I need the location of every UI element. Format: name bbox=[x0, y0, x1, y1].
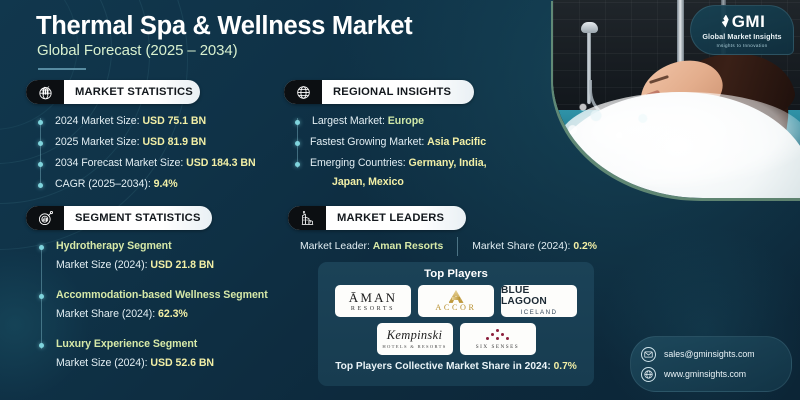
market-leader-row: Market Leader: Aman Resorts Market Share… bbox=[300, 237, 597, 256]
stat-value: USD 184.3 BN bbox=[186, 157, 255, 169]
stat-row: 2034 Forecast Market Size: USD 184.3 BN bbox=[55, 157, 256, 169]
globe-chart-icon bbox=[26, 80, 64, 104]
six-senses-logo: SIX SENSES bbox=[460, 323, 536, 355]
page-title: Thermal Spa & Wellness Market bbox=[36, 12, 412, 41]
contact-email-row[interactable]: sales@gminsights.com bbox=[641, 347, 781, 362]
top-players-row-1: ĀMAN RESORTS ACCOR BLUE LAGOON ICELAND bbox=[326, 285, 586, 317]
logo-line-2: HOTELS & RESORTS bbox=[382, 344, 446, 349]
market-share-value: 0.2% bbox=[573, 241, 597, 252]
contact-panel: sales@gminsights.com www.gminsights.com bbox=[630, 336, 792, 392]
factory-building-icon bbox=[288, 206, 326, 230]
timeline-dot bbox=[39, 343, 44, 348]
gmi-logo-name: GMI bbox=[732, 13, 766, 30]
logo-line-1: ACCOR bbox=[435, 304, 476, 312]
market-leader: Market Leader: Aman Resorts bbox=[300, 241, 443, 252]
timeline-dot bbox=[38, 120, 43, 125]
section-label: SEGMENT STATISTICS bbox=[64, 212, 201, 224]
stat-value: USD 75.1 BN bbox=[142, 115, 206, 127]
timeline-dot bbox=[38, 183, 43, 188]
logo-line-1: ĀMAN bbox=[349, 291, 398, 304]
top-players-footer: Top Players Collective Market Share in 2… bbox=[326, 361, 586, 372]
contact-website: www.gminsights.com bbox=[664, 369, 746, 379]
region-value: Europe bbox=[388, 115, 424, 127]
top-players-row-2: Kempinski HOTELS & RESORTS SIX SENSES bbox=[326, 323, 586, 355]
region-label: Largest Market: bbox=[312, 115, 385, 127]
market-leader-value: Aman Resorts bbox=[373, 241, 443, 252]
logo-line-1: BLUE LAGOON bbox=[501, 286, 577, 306]
segment-metric-value: USD 21.8 BN bbox=[150, 259, 214, 271]
market-leader-label: Market Leader: bbox=[300, 241, 370, 252]
logo-line-2: ICELAND bbox=[521, 309, 558, 316]
timeline-dot bbox=[38, 141, 43, 146]
region-row: Fastest Growing Market: Asia Pacific bbox=[310, 136, 486, 148]
region-value: Germany, India, bbox=[409, 157, 487, 169]
logo-line-1: SIX SENSES bbox=[476, 344, 519, 350]
segment-metric-value: 62.3% bbox=[158, 308, 188, 320]
vertical-divider bbox=[457, 237, 458, 256]
stat-label: 2034 Forecast Market Size: bbox=[55, 157, 183, 169]
segment-metric: Market Size (2024): USD 21.8 BN bbox=[56, 259, 214, 271]
segment-name: Luxury Experience Segment bbox=[56, 338, 197, 350]
stat-value: USD 81.9 BN bbox=[142, 136, 206, 148]
segment-metric-label: Market Size (2024): bbox=[56, 357, 148, 369]
region-row-cont: Japan, Mexico bbox=[332, 176, 404, 188]
section-label: MARKET STATISTICS bbox=[64, 86, 193, 98]
region-label: Emerging Countries: bbox=[310, 157, 406, 169]
decor-blob bbox=[0, 250, 90, 400]
section-label: MARKET LEADERS bbox=[326, 212, 444, 224]
accor-logo: ACCOR bbox=[418, 285, 494, 317]
envelope-icon bbox=[641, 347, 656, 362]
market-share: Market Share (2024): 0.2% bbox=[472, 241, 597, 252]
segment-metric: Market Share (2024): 62.3% bbox=[56, 308, 188, 320]
aman-resorts-logo: ĀMAN RESORTS bbox=[335, 285, 411, 317]
region-row: Largest Market: Europe bbox=[312, 115, 424, 127]
blue-lagoon-logo: BLUE LAGOON ICELAND bbox=[501, 285, 577, 317]
section-label: REGIONAL INSIGHTS bbox=[322, 86, 451, 98]
timeline-line bbox=[40, 118, 41, 186]
title-divider bbox=[38, 68, 86, 70]
segment-metric: Market Size (2024): USD 52.6 BN bbox=[56, 357, 214, 369]
kempinski-logo: Kempinski HOTELS & RESORTS bbox=[377, 323, 453, 355]
top-players-footer-label: Top Players Collective Market Share in 2… bbox=[335, 361, 551, 372]
stat-row: CAGR (2025–2034): 9.4% bbox=[55, 178, 178, 190]
stat-row: 2025 Market Size: USD 81.9 BN bbox=[55, 136, 206, 148]
gmi-diamond-icon bbox=[719, 15, 730, 28]
six-senses-dots-icon bbox=[483, 329, 513, 342]
section-header-segment-statistics: SEGMENT STATISTICS bbox=[26, 206, 212, 230]
bubbles bbox=[557, 96, 687, 152]
accor-mark-icon bbox=[449, 290, 464, 303]
top-players-title: Top Players bbox=[326, 268, 586, 280]
gmi-tagline: Insights to Innovation bbox=[716, 43, 767, 48]
section-header-regional-insights: REGIONAL INSIGHTS bbox=[284, 80, 474, 104]
logo-line-1: Kempinski bbox=[387, 329, 442, 342]
stat-label: 2024 Market Size: bbox=[55, 115, 140, 127]
target-chart-icon bbox=[26, 206, 64, 230]
logo-line-2: RESORTS bbox=[351, 306, 395, 312]
infographic-page: GMI Global Market Insights Insights to I… bbox=[0, 0, 800, 400]
segment-metric-label: Market Share (2024): bbox=[56, 308, 155, 320]
globe-icon bbox=[284, 80, 322, 104]
globe-icon bbox=[641, 367, 656, 382]
region-label: Fastest Growing Market: bbox=[310, 136, 424, 148]
top-players-footer-value: 0.7% bbox=[554, 361, 577, 372]
section-header-market-statistics: MARKET STATISTICS bbox=[26, 80, 200, 104]
stat-label: 2025 Market Size: bbox=[55, 136, 140, 148]
top-players-card: Top Players ĀMAN RESORTS ACCOR BLUE LAGO… bbox=[318, 262, 594, 386]
stat-row: 2024 Market Size: USD 75.1 BN bbox=[55, 115, 206, 127]
timeline-dot bbox=[295, 141, 300, 146]
stat-value: 9.4% bbox=[154, 178, 178, 190]
contact-email: sales@gminsights.com bbox=[664, 349, 755, 359]
region-row: Emerging Countries: Germany, India, bbox=[310, 157, 486, 169]
gmi-company-name: Global Market Insights bbox=[702, 32, 781, 41]
timeline-dot bbox=[38, 162, 43, 167]
section-header-market-leaders: MARKET LEADERS bbox=[288, 206, 466, 230]
region-value-cont: Japan, Mexico bbox=[332, 176, 404, 188]
timeline-dot bbox=[39, 245, 44, 250]
market-share-label: Market Share (2024): bbox=[472, 241, 570, 252]
contact-website-row[interactable]: www.gminsights.com bbox=[641, 367, 781, 382]
segment-metric-label: Market Size (2024): bbox=[56, 259, 148, 271]
timeline-dot bbox=[295, 120, 300, 125]
region-value: Asia Pacific bbox=[427, 136, 486, 148]
segment-name: Hydrotherapy Segment bbox=[56, 240, 172, 252]
segment-metric-value: USD 52.6 BN bbox=[150, 357, 214, 369]
gmi-logo: GMI Global Market Insights Insights to I… bbox=[690, 5, 794, 55]
shower-head-icon bbox=[581, 22, 598, 33]
timeline-dot bbox=[295, 162, 300, 167]
timeline-dot bbox=[39, 294, 44, 299]
stat-label: CAGR (2025–2034): bbox=[55, 178, 151, 190]
segment-name: Accommodation-based Wellness Segment bbox=[56, 289, 268, 301]
page-subtitle: Global Forecast (2025 – 2034) bbox=[37, 42, 238, 59]
